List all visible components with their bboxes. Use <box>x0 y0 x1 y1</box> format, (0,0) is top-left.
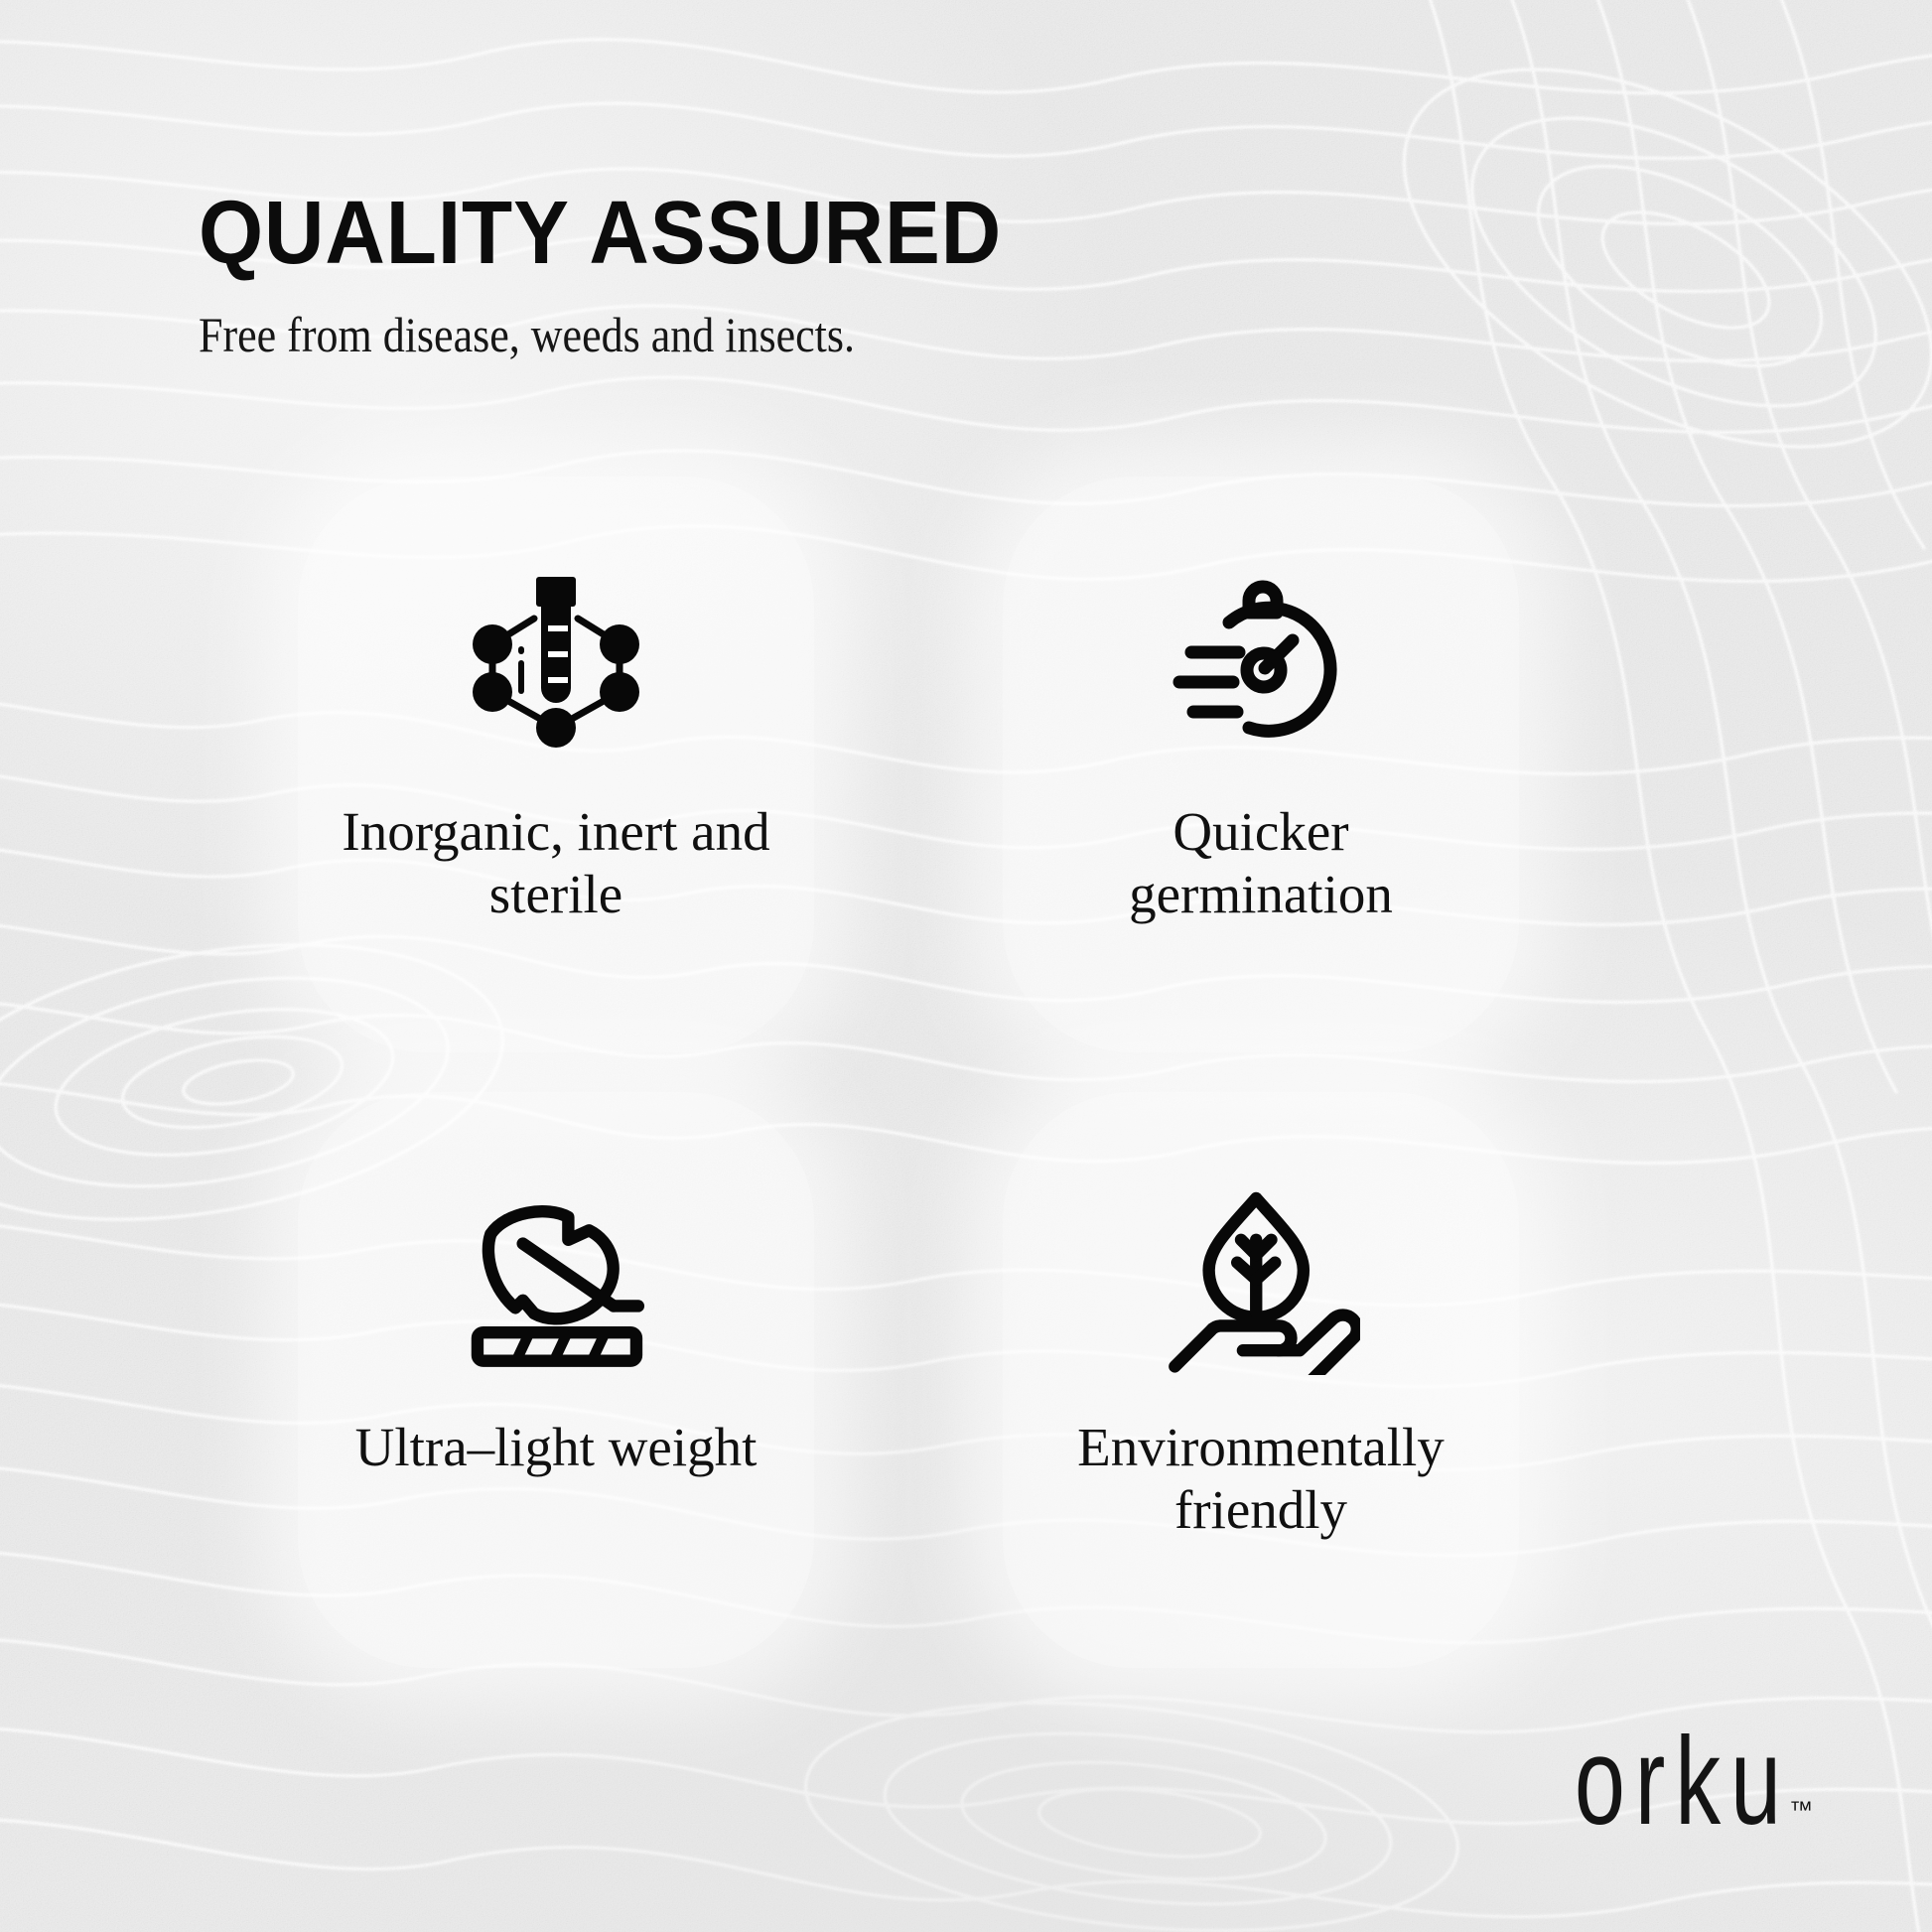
trademark-symbol: ™ <box>1789 1799 1813 1823</box>
feature-label: Inorganic, inert and sterile <box>338 801 774 925</box>
page-subtitle: Free from disease, weeds and insects. <box>199 310 1160 359</box>
feature-label: Quicker germination <box>1042 801 1479 925</box>
brand-logo: orku ™ <box>1527 1741 1813 1833</box>
leaf-in-hand-icon <box>1162 1176 1360 1375</box>
header: QUALITY ASSURED Free from disease, weeds… <box>199 189 1291 359</box>
feature-grid: Inorganic, inert and sterile <box>298 477 1618 1668</box>
poster-canvas: QUALITY ASSURED Free from disease, weeds… <box>0 0 1932 1932</box>
feature-label: Ultra–light weight <box>355 1417 758 1479</box>
brand-logo-wordmark: orku <box>1575 1730 1791 1833</box>
feature-card-germination: Quicker germination <box>1003 477 1519 1052</box>
feature-card-inorganic: Inorganic, inert and sterile <box>298 477 814 1052</box>
molecule-test-tube-icon <box>457 561 655 759</box>
feature-card-eco: Environmentally friendly <box>1003 1092 1519 1668</box>
stopwatch-speed-icon <box>1162 561 1360 759</box>
feather-on-scale-icon <box>457 1176 655 1375</box>
feature-card-lightweight: Ultra–light weight <box>298 1092 814 1668</box>
feature-label: Environmentally friendly <box>1042 1417 1479 1541</box>
page-title: QUALITY ASSURED <box>199 189 1214 278</box>
